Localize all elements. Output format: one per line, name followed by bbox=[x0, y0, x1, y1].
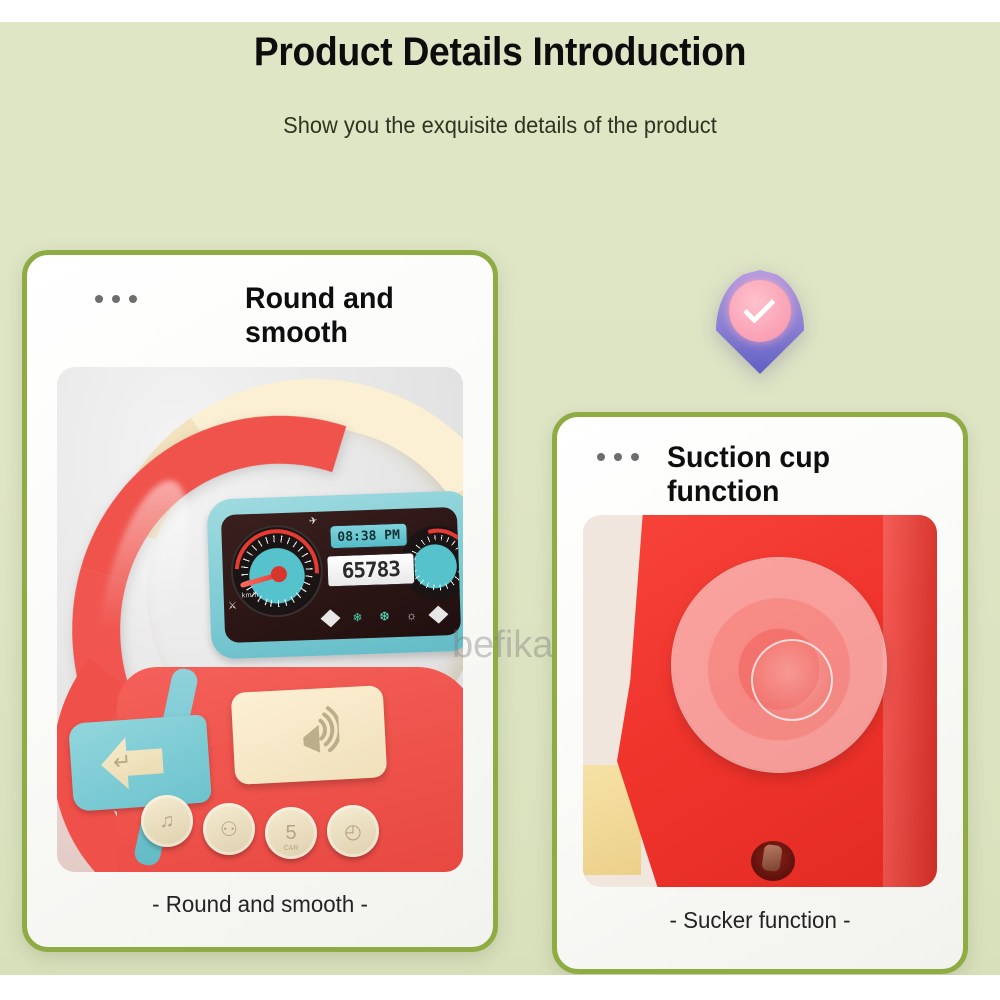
speed-unit-label: km/h bbox=[242, 592, 259, 600]
speedometer-gauge bbox=[229, 524, 324, 619]
dot-icon bbox=[129, 295, 137, 303]
clock-display: 08:38 PM bbox=[329, 523, 408, 550]
page-subtitle: Show you the exquisite details of the pr… bbox=[25, 112, 975, 139]
product-detail-page: Product Details Introduction Show you th… bbox=[0, 22, 1000, 975]
airplane-icon: ✈ bbox=[308, 515, 318, 527]
dots-indicator bbox=[597, 453, 639, 461]
steering-wheel-button[interactable]: ⚇ bbox=[203, 803, 255, 855]
odometer-display: 65783 bbox=[326, 552, 415, 587]
card-title: Round and smooth bbox=[245, 282, 481, 350]
verified-pin-badge bbox=[716, 270, 804, 386]
turn-left-arrow-icon: ↵ bbox=[112, 748, 132, 775]
product-photo-suction-cup bbox=[583, 515, 937, 887]
dot-icon bbox=[112, 295, 120, 303]
seatbelt-icon: ⚔ bbox=[228, 601, 237, 612]
card-suction-cup-function[interactable]: Suction cup function - Sucker function - bbox=[552, 412, 968, 974]
suction-cup-center bbox=[753, 641, 831, 719]
dashboard-frame: km/h ✈ ⚔ 08:38 PM 65783 ❄ ❆ ☼ bbox=[206, 490, 463, 659]
dot-icon bbox=[597, 453, 605, 461]
card-header: Round and smooth bbox=[27, 255, 493, 343]
dot-icon bbox=[95, 295, 103, 303]
dashboard-icon-strip: ❄ ❆ ☼ bbox=[320, 601, 461, 632]
page-title: Product Details Introduction bbox=[35, 30, 965, 75]
number-icon: 5 bbox=[285, 822, 296, 845]
diamond-icon bbox=[320, 609, 341, 628]
card-header: Suction cup function bbox=[557, 417, 963, 495]
snowflake-icon: ❆ bbox=[374, 607, 395, 626]
card-title: Suction cup function bbox=[667, 441, 948, 509]
car-label: CAR bbox=[284, 845, 299, 852]
car-sound-button[interactable]: 5 CAR bbox=[265, 807, 317, 859]
dot-icon bbox=[631, 453, 639, 461]
product-photo-steering-wheel: km/h ✈ ⚔ 08:38 PM 65783 ❄ ❆ ☼ bbox=[57, 367, 463, 872]
red-base-edge bbox=[883, 515, 937, 887]
fan-icon: ❄ bbox=[347, 608, 368, 627]
dot-icon bbox=[614, 453, 622, 461]
card-caption: - Round and smooth - bbox=[34, 891, 486, 918]
gauge-button[interactable]: ◴ bbox=[327, 805, 379, 857]
music-button[interactable]: ♫ bbox=[141, 795, 193, 847]
gauge-icon: ◴ bbox=[344, 819, 361, 844]
sun-icon: ☼ bbox=[401, 606, 422, 625]
dashboard-screen: km/h ✈ ⚔ 08:38 PM 65783 ❄ ❆ ☼ bbox=[221, 507, 461, 643]
music-note-icon: ♫ bbox=[160, 810, 175, 833]
diamond-icon bbox=[428, 605, 449, 624]
dots-indicator bbox=[95, 295, 137, 303]
card-caption: - Sucker function - bbox=[563, 907, 957, 934]
check-icon bbox=[743, 291, 776, 324]
horn-sound-icon bbox=[288, 702, 341, 761]
card-round-and-smooth[interactable]: Round and smooth bbox=[22, 250, 498, 952]
pin-circle bbox=[729, 280, 791, 342]
steering-wheel-icon: ⚇ bbox=[220, 817, 238, 842]
